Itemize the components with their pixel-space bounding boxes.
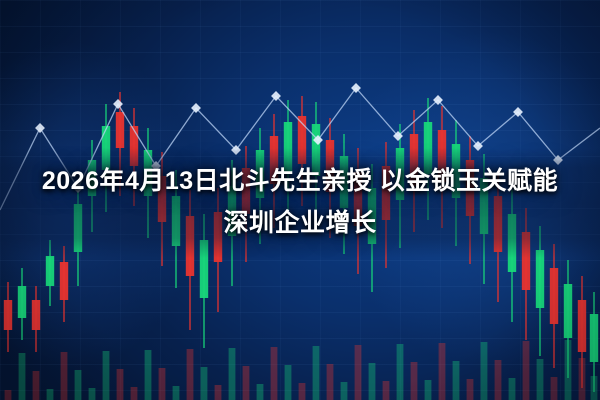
banner-image: 2026年4月13日北斗先生亲授 以金锁玉关赋能 深圳企业增长 xyxy=(0,0,600,400)
headline-title: 2026年4月13日北斗先生亲授 以金锁玉关赋能 深圳企业增长 xyxy=(0,160,600,244)
